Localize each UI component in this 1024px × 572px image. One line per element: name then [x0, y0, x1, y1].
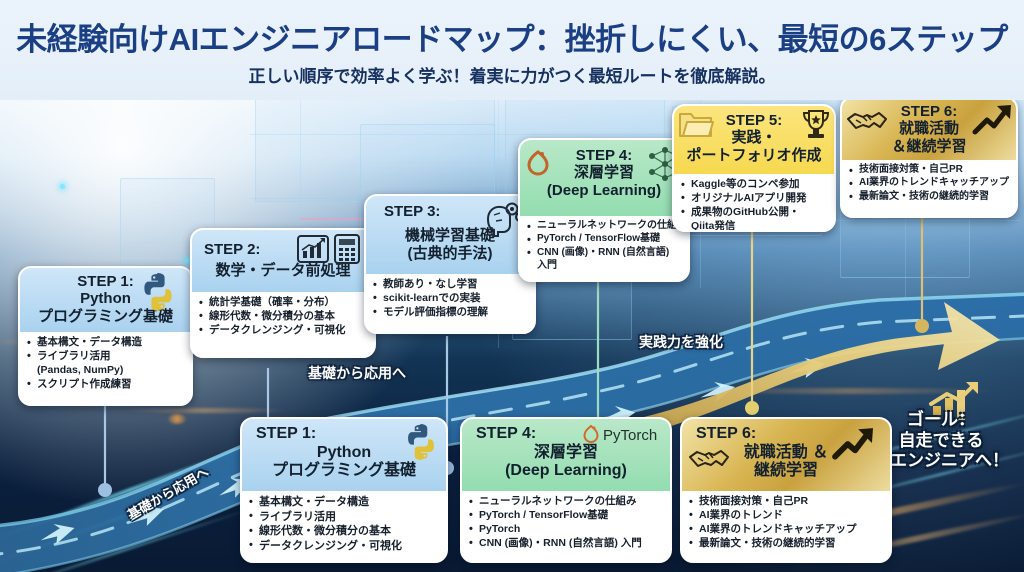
list-item: 最新論文・技術の継続的学習 — [689, 537, 884, 550]
list-item: Kaggle等のコンペ参加 — [681, 178, 828, 191]
list-item: scikit-learnでの実装 — [373, 292, 528, 305]
list-item: 統計学基礎（確率・分布） — [199, 296, 368, 309]
folder-icon — [678, 110, 714, 140]
list-item: 入門 — [527, 260, 682, 273]
trend-arrow-icon — [972, 102, 1014, 138]
pytorch-flame-icon — [525, 146, 551, 176]
handshake-icon — [686, 445, 732, 473]
list-item: 線形代数・微分積分の基本 — [249, 524, 440, 538]
card-bottom-step4-header: PyTorch STEP 4: 深層学習 (Deep Learning) — [462, 419, 670, 491]
list-item: (Pandas, NumPy) — [27, 364, 185, 377]
card-step5-header: STEP 5: 実践・ ポートフォリオ作成 — [674, 106, 834, 174]
card-bottom-step4-body: ニューラルネットワークの仕組み PyTorch / TensorFlow基礎 P… — [462, 491, 670, 556]
list-item: PyTorch — [469, 523, 664, 536]
card-bottom-step4-title-line3: (Deep Learning) — [468, 462, 664, 481]
card-step2-title-line2: 数学・データ前処理 — [198, 262, 368, 279]
background-scene: 基礎から応用へ 基礎から応用へ 実践力を強化 ゴール： 自走できる AIエンジニ… — [0, 88, 1024, 572]
list-item: ニューラルネットワークの仕組み — [527, 220, 682, 233]
list-item: モデル評価指標の理解 — [373, 306, 528, 319]
card-bottom-step6[interactable]: STEP 6: 就職活動 ＆ 継続学習 技術面接対策・自己PR AI業界のトレン… — [680, 417, 892, 563]
list-item: CNN (画像)・RNN (自然言語) — [527, 247, 682, 260]
card-step1[interactable]: STEP 1: Python プログラミング基礎 基本構文・データ構造 ライブラ… — [18, 266, 193, 406]
card-step1-header: STEP 1: Python プログラミング基礎 — [20, 268, 191, 332]
list-item: データクレンジング・可視化 — [249, 539, 440, 553]
list-item: ライブラリ活用 — [27, 350, 185, 363]
header-banner: 未経験向けAIエンジニアロードマップ：挫折しにくい、最短の6ステップ 正しい順序… — [0, 0, 1024, 100]
page-title: 未経験向けAIエンジニアロードマップ：挫折しにくい、最短の6ステップ — [0, 14, 1024, 59]
list-item: 最新論文・技術の継続的学習 — [849, 191, 1010, 204]
list-item: AI業界のトレンド — [689, 509, 884, 522]
trend-arrow-icon — [830, 425, 878, 463]
card-step6-header: STEP 6: 就職活動 ＆継続学習 — [842, 98, 1016, 160]
card-bottom-step6-body: 技術面接対策・自己PR AI業界のトレンド AI業界のトレンドキャッチアップ 最… — [682, 491, 890, 556]
card-step5[interactable]: STEP 5: 実践・ ポートフォリオ作成 Kaggle等のコンペ参加 オリジナ… — [672, 104, 836, 232]
card-step2-body: 統計学基礎（確率・分布） 線形代数・微分積分の基本 データクレンジング・可視化 — [192, 292, 374, 343]
card-step4[interactable]: STEP 4: 深層学習 (Deep Learning) ニューラルネットワーク… — [518, 138, 690, 282]
path-label-right: 実践力を強化 — [639, 332, 723, 352]
card-step3-body: 教師あり・なし学習 scikit-learnでの実装 モデル評価指標の理解 — [366, 274, 534, 325]
card-step3-title-line3: (古典的手法) — [372, 245, 528, 262]
card-bottom-step4[interactable]: PyTorch STEP 4: 深層学習 (Deep Learning) ニュー… — [460, 417, 672, 563]
pytorch-wordmark-icon: PyTorch — [580, 423, 672, 445]
list-item: 線形代数・微分積分の基本 — [199, 310, 368, 323]
card-step2[interactable]: STEP 2: 数学・データ前処理 統計学基礎（確率・分布） 線形代数・微分積分… — [190, 228, 376, 358]
card-step2-header: STEP 2: 数学・データ前処理 — [192, 230, 374, 292]
card-bottom-step1-body: 基本構文・データ構造 ライブラリ活用 線形代数・微分積分の基本 データクレンジン… — [242, 491, 446, 558]
list-item: 基本構文・データ構造 — [249, 495, 440, 509]
list-item: 技術面接対策・自己PR — [689, 495, 884, 508]
list-item: ニューラルネットワークの仕組み — [469, 495, 664, 508]
list-item: Qiita発信 — [681, 220, 828, 232]
card-step6-title-line3: ＆継続学習 — [848, 138, 1010, 155]
card-bottom-step1-title-line3: プログラミング基礎 — [248, 462, 440, 481]
python-logo-icon — [138, 272, 178, 312]
page-subtitle: 正しい順序で効率よく学ぶ！着実に力がつく最短ルートを徹底解説。 — [0, 62, 1024, 87]
list-item: 技術面接対策・自己PR — [849, 164, 1010, 177]
list-item: CNN (画像)・RNN (自然言語) 入門 — [469, 537, 664, 550]
card-step4-body: ニューラルネットワークの仕組み PyTorch / TensorFlow基礎 C… — [520, 216, 688, 278]
card-bottom-step4-title-line2: 深層学習 — [468, 444, 664, 463]
list-item: ライブラリ活用 — [249, 510, 440, 524]
card-bottom-step1[interactable]: STEP 1: Python プログラミング基礎 基本構文・データ構造 ライブラ… — [240, 417, 448, 563]
card-step5-body: Kaggle等のコンペ参加 オリジナルAIアプリ開発 成果物のGitHub公開・… — [674, 174, 834, 232]
list-item: 成果物のGitHub公開・ — [681, 206, 828, 219]
card-step4-title-line3: (Deep Learning) — [526, 182, 682, 199]
list-item: AI業界のトレンドキャッチアップ — [849, 177, 1010, 190]
list-item: データクレンジング・可視化 — [199, 324, 368, 337]
bar-chart-icon — [297, 234, 329, 264]
card-step3-header: STEP 3: 機械学習基礎 (古典的手法) — [366, 196, 534, 274]
list-item: PyTorch / TensorFlow基礎 — [469, 509, 664, 522]
list-item: オリジナルAIアプリ開発 — [681, 192, 828, 205]
card-step5-title-line3: ポートフォリオ作成 — [680, 147, 828, 164]
trophy-icon — [800, 108, 832, 142]
list-item: スクリプト作成練習 — [27, 378, 185, 391]
card-step1-body: 基本構文・データ構造 ライブラリ活用 (Pandas, NumPy) スクリプト… — [20, 332, 191, 397]
card-step6-body: 技術面接対策・自己PR AI業界のトレンドキャッチアップ 最新論文・技術の継続的… — [842, 160, 1016, 209]
card-step4-header: STEP 4: 深層学習 (Deep Learning) — [520, 140, 688, 216]
card-bottom-step1-header: STEP 1: Python プログラミング基礎 — [242, 419, 446, 491]
list-item: 基本構文・データ構造 — [27, 336, 185, 349]
list-item: PyTorch / TensorFlow基礎 — [527, 233, 682, 246]
path-label-middle: 基礎から応用へ — [308, 363, 406, 383]
list-item: 教師あり・なし学習 — [373, 278, 528, 291]
calculator-icon — [334, 234, 360, 264]
handshake-icon — [846, 107, 888, 135]
card-step6[interactable]: STEP 6: 就職活動 ＆継続学習 技術面接対策・自己PR AI業界のトレンド… — [840, 96, 1018, 218]
svg-text:PyTorch: PyTorch — [603, 427, 657, 444]
card-step3[interactable]: STEP 3: 機械学習基礎 (古典的手法) 教師あり・なし学習 scikit-… — [364, 194, 536, 334]
python-logo-icon — [402, 423, 440, 461]
list-item: AI業界のトレンドキャッチアップ — [689, 523, 884, 536]
card-bottom-step6-header: STEP 6: 就職活動 ＆ 継続学習 — [682, 419, 890, 491]
